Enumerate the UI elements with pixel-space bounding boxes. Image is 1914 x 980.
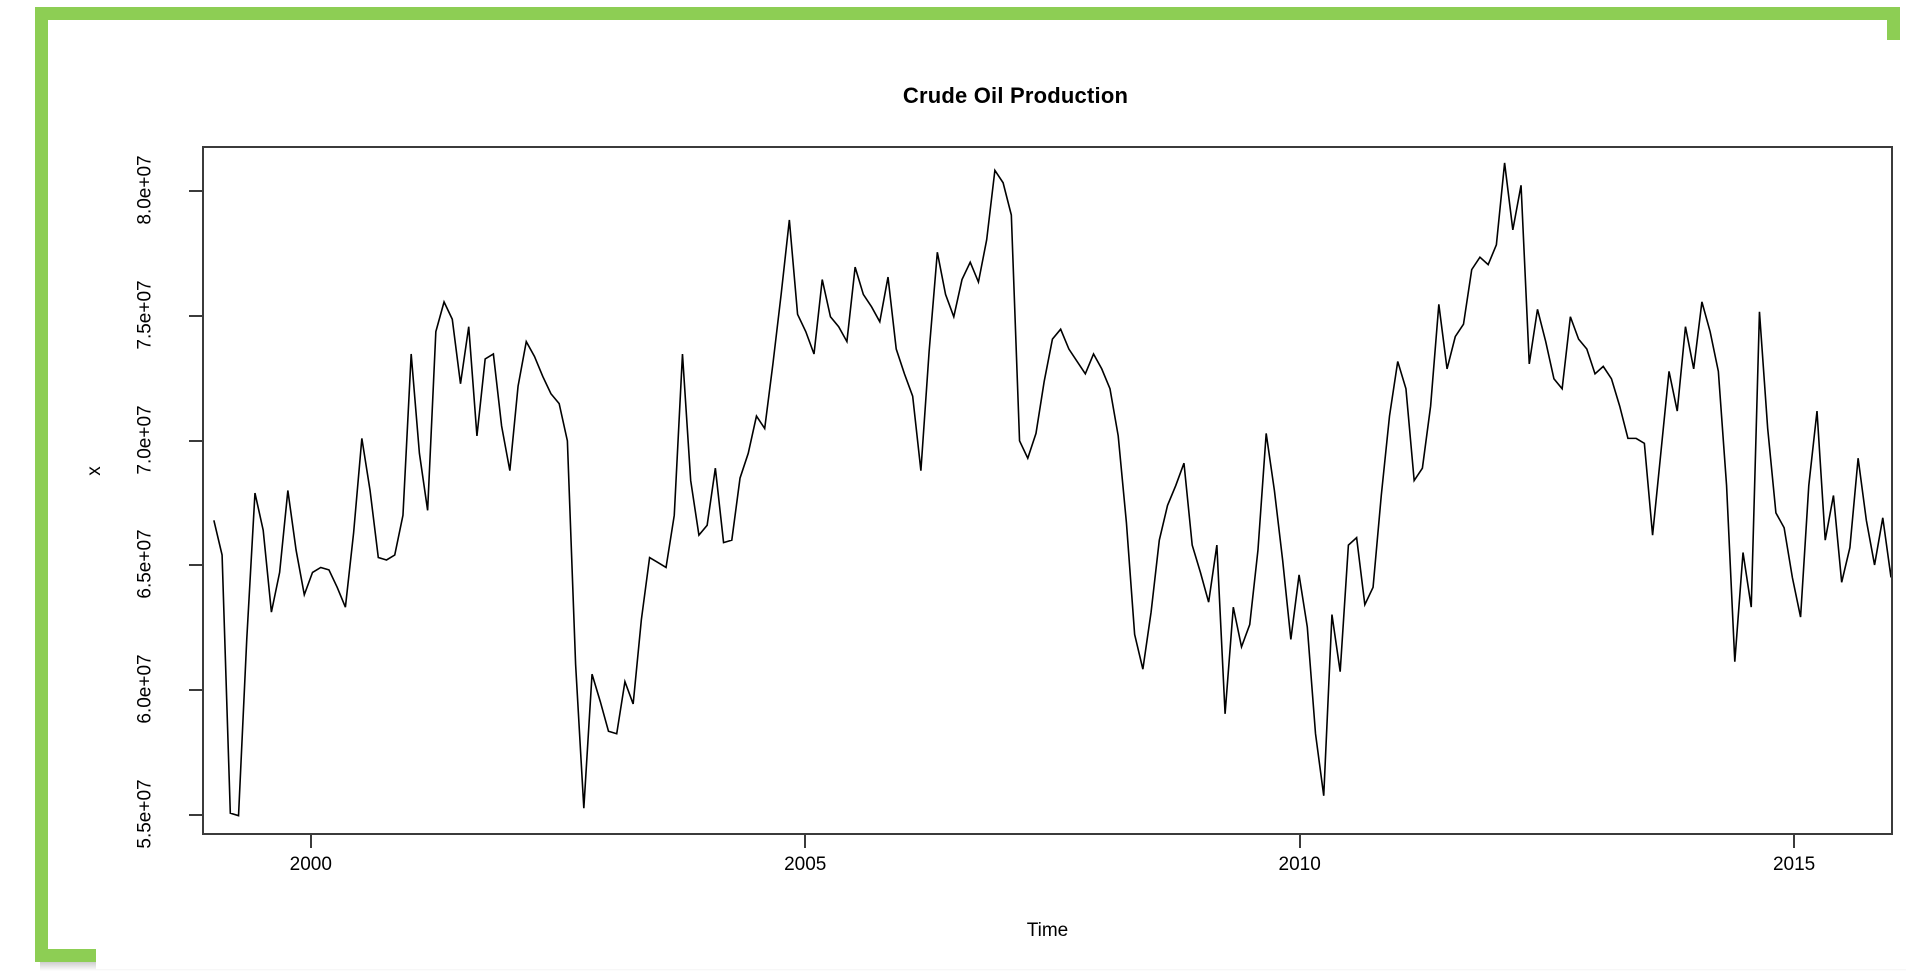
plot-canvas: Crude Oil Production x 5.5e+076.0e+076.5… [96, 40, 1914, 969]
y-axis-tick-label-text: 6.5e+07 [134, 530, 156, 599]
y-axis-tick-mark [189, 315, 202, 317]
x-axis-tick-label: 2000 [290, 854, 332, 876]
y-axis-tick-label-text: 7.0e+07 [134, 405, 156, 474]
y-axis-tick-label: 5.5e+07 [96, 803, 180, 825]
x-axis-tick-mark [310, 835, 312, 848]
y-axis-tick-label: 6.5e+07 [96, 553, 180, 575]
y-axis-tick-label-text: 5.5e+07 [134, 779, 156, 848]
y-axis-tick-label: 6.0e+07 [96, 678, 180, 700]
y-axis-tick-label-text: 7.5e+07 [134, 280, 156, 349]
x-axis-label: Time [202, 920, 1893, 942]
y-axis-tick-label-text: 8.0e+07 [134, 155, 156, 224]
screenshot-root: Crude Oil Production x 5.5e+076.0e+076.5… [0, 0, 1914, 980]
x-axis-tick-label: 2005 [784, 854, 826, 876]
x-axis-tick-mark [1793, 835, 1795, 848]
x-axis-tick-label: 2015 [1773, 854, 1815, 876]
x-axis-tick-label: 2010 [1279, 854, 1321, 876]
crude-oil-production-series [214, 163, 1891, 816]
y-axis-label-text: x [84, 466, 106, 476]
y-axis-label: x [90, 460, 100, 482]
y-axis-tick-label: 7.0e+07 [96, 429, 180, 451]
y-axis-tick-mark [189, 689, 202, 691]
y-axis-tick-mark [189, 814, 202, 816]
x-axis-tick-mark [1299, 835, 1301, 848]
y-axis-tick-mark [189, 440, 202, 442]
plot-frame [202, 146, 1893, 835]
green-picture-frame: Crude Oil Production x 5.5e+076.0e+076.5… [35, 7, 1900, 962]
y-axis-tick-label-text: 6.0e+07 [134, 655, 156, 724]
y-axis-tick-mark [189, 564, 202, 566]
chart-title: Crude Oil Production [96, 83, 1914, 109]
y-axis-tick-mark [189, 190, 202, 192]
y-axis-tick-label: 7.5e+07 [96, 304, 180, 326]
y-axis-tick-label: 8.0e+07 [96, 179, 180, 201]
x-axis-tick-mark [804, 835, 806, 848]
time-series-line-chart [204, 148, 1891, 833]
